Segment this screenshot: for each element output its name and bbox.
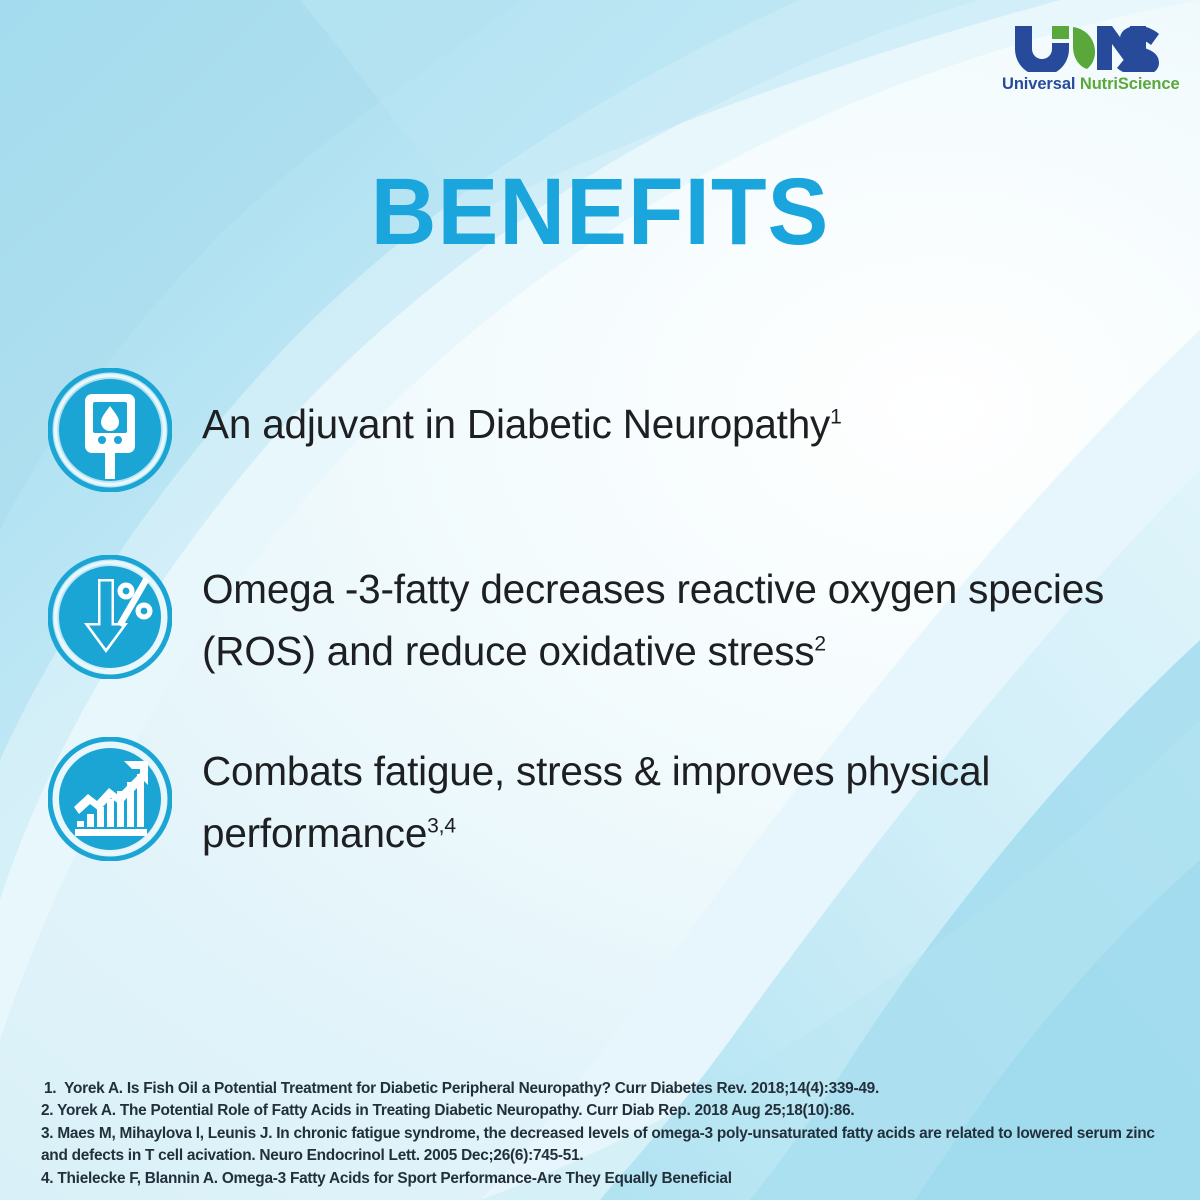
- benefit-text: Combats fatigue, stress & improves physi…: [202, 737, 1188, 864]
- benefits-list: An adjuvant in Diabetic Neuropathy1: [48, 368, 1188, 864]
- benefit-text: An adjuvant in Diabetic Neuropathy1: [202, 368, 1188, 456]
- page-title: BENEFITS: [24, 165, 1176, 260]
- benefit-superscript: 1: [830, 406, 842, 429]
- reference-item: 1. Yorek A. Is Fish Oil a Potential Trea…: [41, 1078, 1171, 1100]
- brand-logo: Universal NutriScience: [1002, 24, 1172, 94]
- benefit-label: Omega -3-fatty decreases reactive oxygen…: [202, 566, 1104, 674]
- uns-logo-mark: [1011, 24, 1163, 72]
- benefit-superscript: 2: [814, 632, 826, 655]
- reference-item: 4. Thielecke F, Blannin A. Omega-3 Fatty…: [41, 1168, 1171, 1190]
- references-block: 1. Yorek A. Is Fish Oil a Potential Trea…: [41, 1078, 1171, 1190]
- benefit-label: Combats fatigue, stress & improves physi…: [202, 748, 990, 856]
- growth-bar-chart-icon: [48, 737, 172, 861]
- reference-item: 2. Yorek A. The Potential Role of Fatty …: [41, 1100, 1171, 1122]
- arrow-down-percent-icon: [48, 555, 172, 679]
- benefit-superscript: 3,4: [427, 814, 456, 837]
- glucometer-icon: [48, 368, 172, 492]
- benefit-item: An adjuvant in Diabetic Neuropathy1: [48, 368, 1188, 492]
- logo-wordmark: Universal NutriScience: [1002, 75, 1172, 94]
- benefit-item: Omega -3-fatty decreases reactive oxygen…: [48, 555, 1188, 682]
- poster-canvas: Universal NutriScience BENEFITS: [0, 0, 1200, 1200]
- benefit-item: Combats fatigue, stress & improves physi…: [48, 737, 1188, 864]
- reference-item: 3. Maes M, Mihaylova l, Leunis J. In chr…: [41, 1123, 1171, 1168]
- logo-word-universal: Universal: [1002, 75, 1080, 93]
- benefit-label: An adjuvant in Diabetic Neuropathy: [202, 401, 830, 447]
- logo-word-nutriscience: NutriScience: [1080, 75, 1180, 93]
- benefit-text: Omega -3-fatty decreases reactive oxygen…: [202, 555, 1188, 682]
